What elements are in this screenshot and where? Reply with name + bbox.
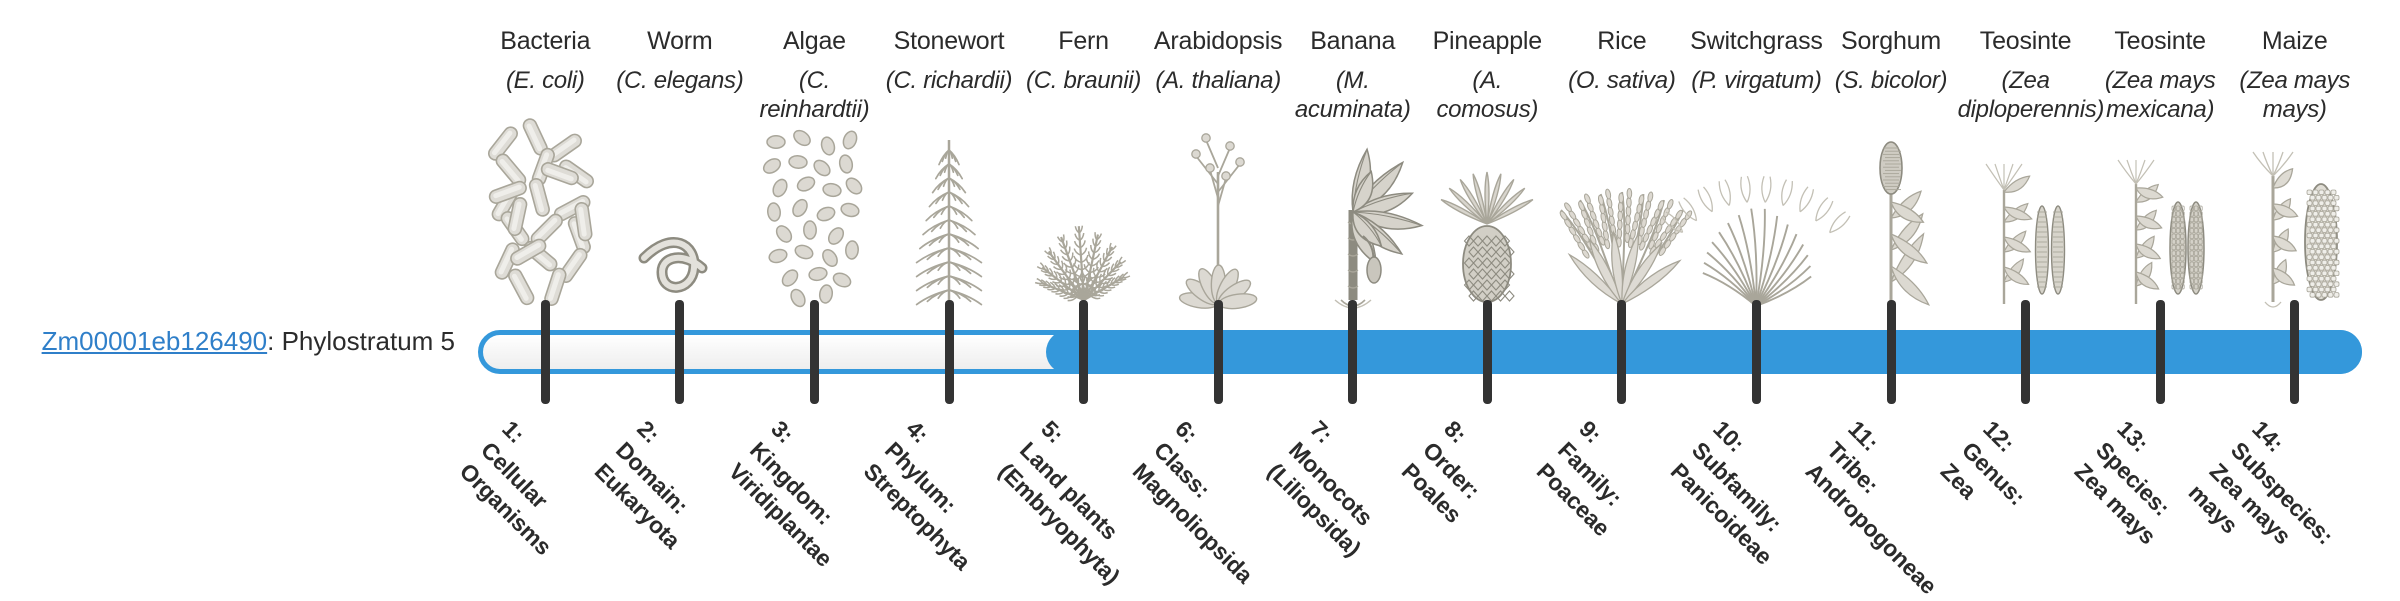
stonewort-icon [881, 130, 1017, 310]
rice-plant-icon [1554, 130, 1690, 310]
species-column: Fern(C. braunii) [1016, 26, 1152, 95]
gene-phylostratum-label: Zm00001eb126490: Phylostratum 5 [0, 325, 455, 357]
species-column: Rice(O. sativa) [1554, 26, 1690, 95]
stratum-label: 5:Land plants(Embryophyta) [992, 414, 1169, 591]
stratum-tick[interactable] [810, 300, 819, 404]
stratum-tick[interactable] [945, 300, 954, 404]
stratum-label: 2:Domain:Eukaryota [588, 414, 729, 555]
stratum-label: 14:Subspecies:Zea mays mays [2182, 414, 2361, 593]
species-latin-name: (C. richardii) [881, 66, 1017, 95]
species-latin-name: (C. braunii) [1016, 66, 1152, 95]
species-column: Banana(M. acuminata) [1285, 26, 1421, 124]
fern-frond-icon [1016, 130, 1152, 310]
stratum-label: 11:Tribe:Andropogoneae [1799, 414, 1985, 600]
species-common-name: Teosinte [1958, 26, 2094, 56]
stratum-tick[interactable] [2156, 300, 2165, 404]
stratum-tick[interactable] [1079, 300, 1088, 404]
teosinte-diplo-icon [1958, 130, 2094, 310]
stratum-label: 10:Subfamily:Panicoideae [1665, 414, 1822, 571]
pineapple-icon [1419, 130, 1555, 310]
stratum-tick[interactable] [541, 300, 550, 404]
species-column: Teosinte(Zea mays mexicana) [2092, 26, 2228, 124]
species-common-name: Worm [612, 26, 748, 56]
species-common-name: Arabidopsis [1150, 26, 1286, 56]
stratum-tick[interactable] [1617, 300, 1626, 404]
species-common-name: Bacteria [477, 26, 613, 56]
stratum-label: 8:Order:Poales [1396, 414, 1511, 529]
phylostratum-progress-bar[interactable] [478, 330, 2362, 374]
species-common-name: Rice [1554, 26, 1690, 56]
sorghum-icon [1823, 130, 1959, 310]
switchgrass-icon [1688, 130, 1824, 310]
species-common-name: Switchgrass [1688, 26, 1824, 56]
species-common-name: Maize [2227, 26, 2363, 56]
stratum-label: 3:Kingdom:Viridiplantae [723, 414, 882, 573]
phylostratum-value: Phylostratum 5 [282, 326, 455, 356]
stratum-tick[interactable] [1887, 300, 1896, 404]
stratum-tick[interactable] [1483, 300, 1492, 404]
stratum-tick[interactable] [2021, 300, 2030, 404]
species-column: Maize(Zea mays mays) [2227, 26, 2363, 124]
species-column: Sorghum(S. bicolor) [1823, 26, 1959, 95]
bacteria-rods-icon [477, 130, 613, 310]
species-latin-name: (P. virgatum) [1688, 66, 1824, 95]
species-column: Pineapple(A. comosus) [1419, 26, 1555, 124]
teosinte-mexicana-icon [2092, 130, 2228, 310]
stratum-tick[interactable] [1752, 300, 1761, 404]
species-common-name: Stonewort [881, 26, 1017, 56]
banana-plant-icon [1285, 130, 1421, 310]
species-column: Switchgrass(P. virgatum) [1688, 26, 1824, 95]
species-header-row: Bacteria(E. coli) [464, 26, 2364, 311]
species-common-name: Teosinte [2092, 26, 2228, 56]
maize-icon [2227, 130, 2363, 310]
species-column: Algae(C. reinhardtii) [746, 26, 882, 124]
species-latin-name: (C. reinhardtii) [746, 66, 882, 124]
species-latin-name: (M. acuminata) [1285, 66, 1421, 124]
stratum-tick[interactable] [1348, 300, 1357, 404]
species-column: Arabidopsis(A. thaliana) [1150, 26, 1286, 95]
species-latin-name: (C. elegans) [612, 66, 748, 95]
species-column: Worm(C. elegans) [612, 26, 748, 95]
species-latin-name: (Zea mays mays) [2227, 66, 2363, 124]
stratum-label: 9:Family:Poaceae [1530, 414, 1659, 543]
phylostratigraphy-figure: Zm00001eb126490: Phylostratum 5 Bacteria… [0, 0, 2400, 580]
species-latin-name: (O. sativa) [1554, 66, 1690, 95]
species-common-name: Banana [1285, 26, 1421, 56]
gene-id-link[interactable]: Zm00001eb126490 [42, 326, 268, 356]
species-common-name: Algae [746, 26, 882, 56]
species-latin-name: (A. thaliana) [1150, 66, 1286, 95]
stratum-label: 4:Phylum:Streptophyta [857, 414, 1019, 576]
stratum-label: 13:Species:Zea mays [2069, 414, 2206, 551]
arabidopsis-icon [1150, 130, 1286, 310]
gene-label-separator: : [267, 326, 281, 356]
species-column: Bacteria(E. coli) [477, 26, 613, 95]
stratum-label: 6:Class:Magnoliopsida [1127, 414, 1303, 590]
species-latin-name: (E. coli) [477, 66, 613, 95]
species-column: Teosinte(Zea diploperennis) [1958, 26, 2094, 124]
nematode-worm-icon [612, 130, 748, 310]
species-latin-name: (Zea mays mexicana) [2092, 66, 2228, 124]
species-common-name: Pineapple [1419, 26, 1555, 56]
species-column: Stonewort(C. richardii) [881, 26, 1017, 95]
stratum-tick[interactable] [675, 300, 684, 404]
stratum-tick[interactable] [2290, 300, 2299, 404]
algae-cells-icon [746, 130, 882, 310]
species-latin-name: (S. bicolor) [1823, 66, 1959, 95]
species-common-name: Sorghum [1823, 26, 1959, 56]
species-latin-name: (A. comosus) [1419, 66, 1555, 124]
stratum-tick[interactable] [1214, 300, 1223, 404]
stratum-label: 1:CellularOrganisms [454, 414, 601, 561]
species-common-name: Fern [1016, 26, 1152, 56]
species-latin-name: (Zea diploperennis) [1958, 66, 2094, 124]
